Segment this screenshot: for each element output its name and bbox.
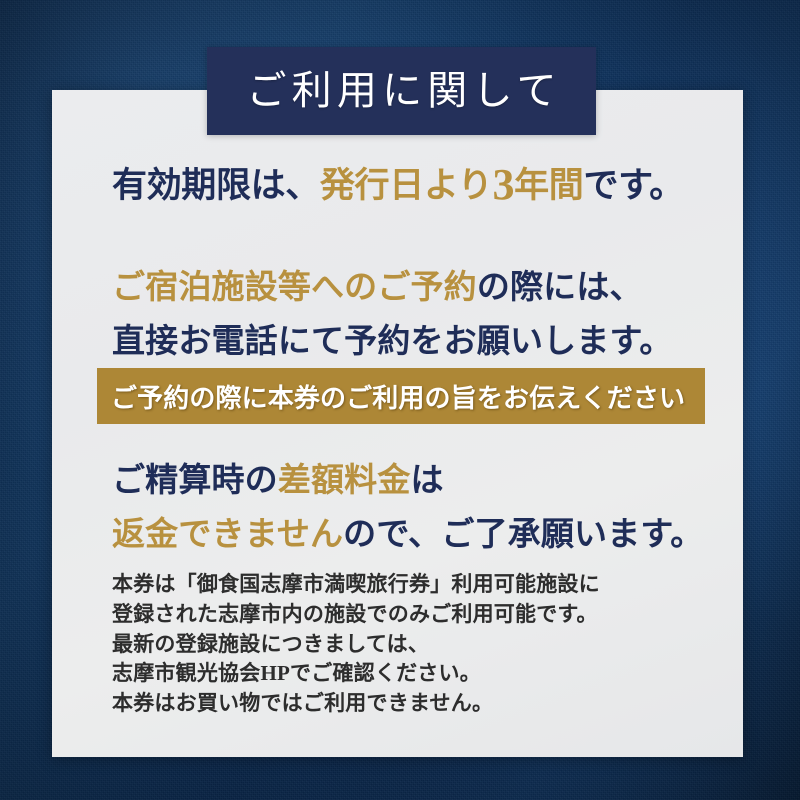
reservation-gold-part: ご宿泊施設等へのご予約 [112, 270, 477, 306]
expiry-suffix: です。 [583, 166, 683, 205]
expiry-line: 有効期限は、発行日より3年間です。 [112, 163, 684, 207]
page-title: ご利用に関して [241, 71, 561, 111]
fineprint-line: 本券は「御食国志摩市満喫旅行券」利用可能施設に [112, 570, 712, 600]
expiry-prefix: 有効期限は、 [112, 166, 320, 205]
fineprint-line: 最新の登録施設につきましては、 [112, 630, 712, 660]
reservation-line-2: 直接お電話にて予約をお願いします。 [112, 326, 673, 359]
settlement-suffix: は [411, 463, 444, 499]
fineprint-line: 本券はお買い物ではご利用できません。 [112, 689, 712, 719]
norefund-gold-part: 返金できません [112, 517, 343, 553]
gold-notice-text: ご予約の際に本券のご利用の旨をお伝えください [97, 378, 685, 415]
title-banner: ご利用に関して [207, 47, 596, 135]
settlement-line-1: ご精算時の差額料金は [112, 465, 444, 498]
expiry-gold-pre: 発行日より [320, 166, 493, 205]
expiry-years-number: 3 [492, 160, 514, 209]
norefund-navy-part: ので、ご了承願います。 [343, 517, 703, 553]
settlement-prefix: ご精算時の [112, 463, 278, 499]
reservation-navy-part: の際には、 [477, 270, 643, 306]
gold-notice-banner: ご予約の際に本券のご利用の旨をお伝えください [97, 368, 705, 424]
expiry-gold-post: 年間 [514, 166, 583, 205]
reservation-line-1: ご宿泊施設等へのご予約の際には、 [112, 272, 643, 305]
fineprint-line: 志摩市観光協会HPでご確認ください。 [112, 659, 712, 689]
fineprint-line: 登録された志摩市内の施設でのみご利用可能です。 [112, 600, 712, 630]
card-content: 有効期限は、発行日より3年間です。 ご宿泊施設等へのご予約の際には、 直接お電話… [52, 90, 743, 757]
fineprint-block: 本券は「御食国志摩市満喫旅行券」利用可能施設に 登録された志摩市内の施設でのみご… [112, 570, 712, 719]
settlement-line-2: 返金できませんので、ご了承願います。 [112, 519, 703, 552]
settlement-gold-part: 差額料金 [278, 463, 411, 499]
poster-background: 有効期限は、発行日より3年間です。 ご宿泊施設等へのご予約の際には、 直接お電話… [0, 0, 800, 800]
info-card: 有効期限は、発行日より3年間です。 ご宿泊施設等へのご予約の際には、 直接お電話… [52, 90, 743, 757]
